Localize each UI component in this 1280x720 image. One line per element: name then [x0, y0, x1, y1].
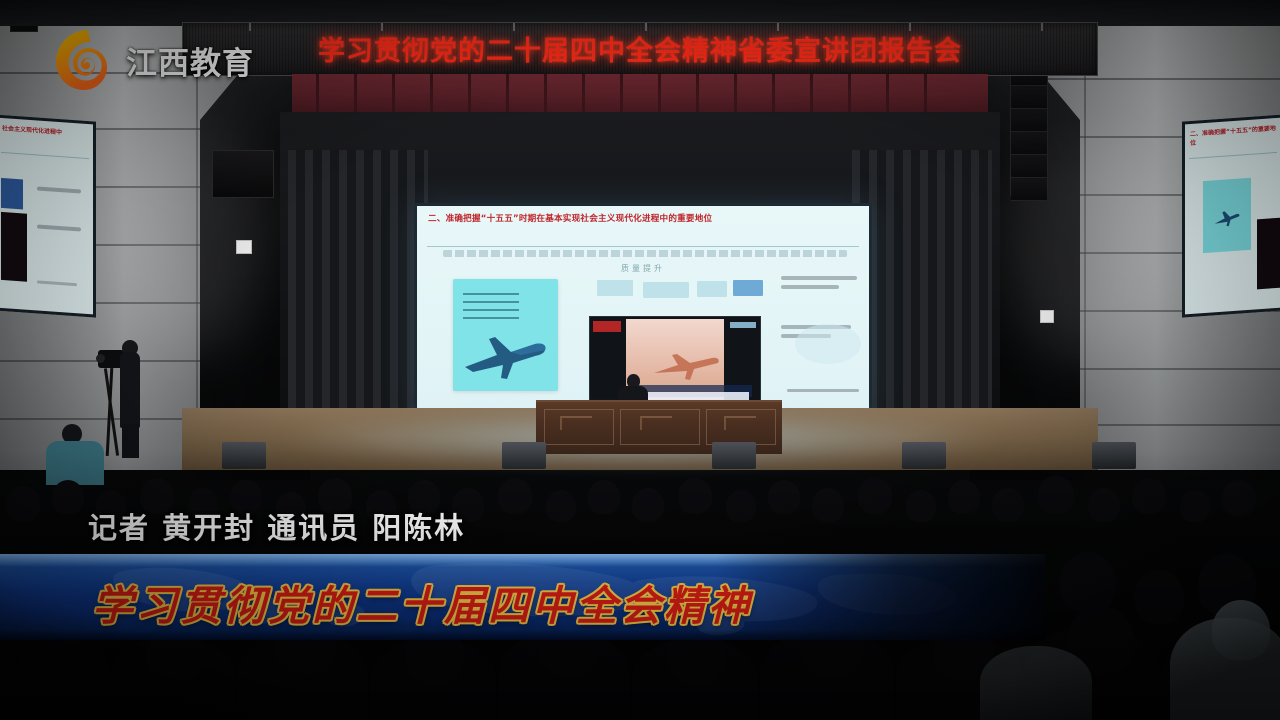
slide-footnote [787, 389, 859, 392]
side-airplane-icon [1205, 204, 1249, 249]
side-screen-right: 二、准确把握“十五五”的重要地位 [1182, 114, 1280, 317]
slide-subtitle: 质量提升 [417, 263, 869, 274]
jiangxi-education-spiral-icon [56, 28, 120, 92]
video-channel-badge [593, 321, 621, 332]
airplane-illustration [459, 327, 551, 383]
slide-embedded-video [589, 316, 761, 404]
video-aircraft-graphic [650, 347, 728, 383]
lower-third-banner: 学习贯彻党的二十届四中全会精神 [0, 554, 1045, 640]
video-corner-badge [730, 322, 756, 328]
channel-logo: 江西教育 [56, 28, 254, 92]
stage-curtain-right [852, 150, 992, 450]
side-screen-left: 社会主义现代化进程中 [0, 114, 96, 317]
cameraman [96, 336, 150, 460]
side-screen-left-title: 社会主义现代化进程中 [2, 124, 89, 139]
wall-speaker-left [212, 150, 274, 198]
wall-outlet-plate [1040, 310, 1054, 323]
side-screen-right-title: 二、准确把握“十五五”的重要地位 [1190, 124, 1277, 148]
slide-right-bubble [795, 324, 861, 364]
broadcast-frame: 学习贯彻党的二十届四中全会精神省委宣讲团报告会 [0, 0, 1280, 720]
side-screen-right-card [1203, 178, 1251, 253]
channel-logo-text: 江西教育 [126, 38, 254, 83]
stage-curtain-left [288, 150, 428, 450]
reporter-credits: 记者 黄开封 通讯员 阳陈林 [88, 505, 465, 547]
slide-title: 二、准确把握“十五五”时期在基本实现社会主义现代化进程中的重要地位 [428, 213, 859, 225]
line-array-speaker-right [1010, 62, 1048, 196]
slide-airplane-card [453, 279, 558, 391]
slide-thumbnail-row [597, 280, 757, 302]
led-banner-board: 学习贯彻党的二十届四中全会精神省委宣讲团报告会 [182, 22, 1098, 76]
wall-switch-plate [236, 240, 252, 254]
led-banner-text: 学习贯彻党的二十届四中全会精神省委宣讲团报告会 [183, 29, 1097, 68]
slide-body-text-block [443, 250, 847, 257]
lower-third-headline: 学习贯彻党的二十届四中全会精神 [92, 572, 752, 632]
